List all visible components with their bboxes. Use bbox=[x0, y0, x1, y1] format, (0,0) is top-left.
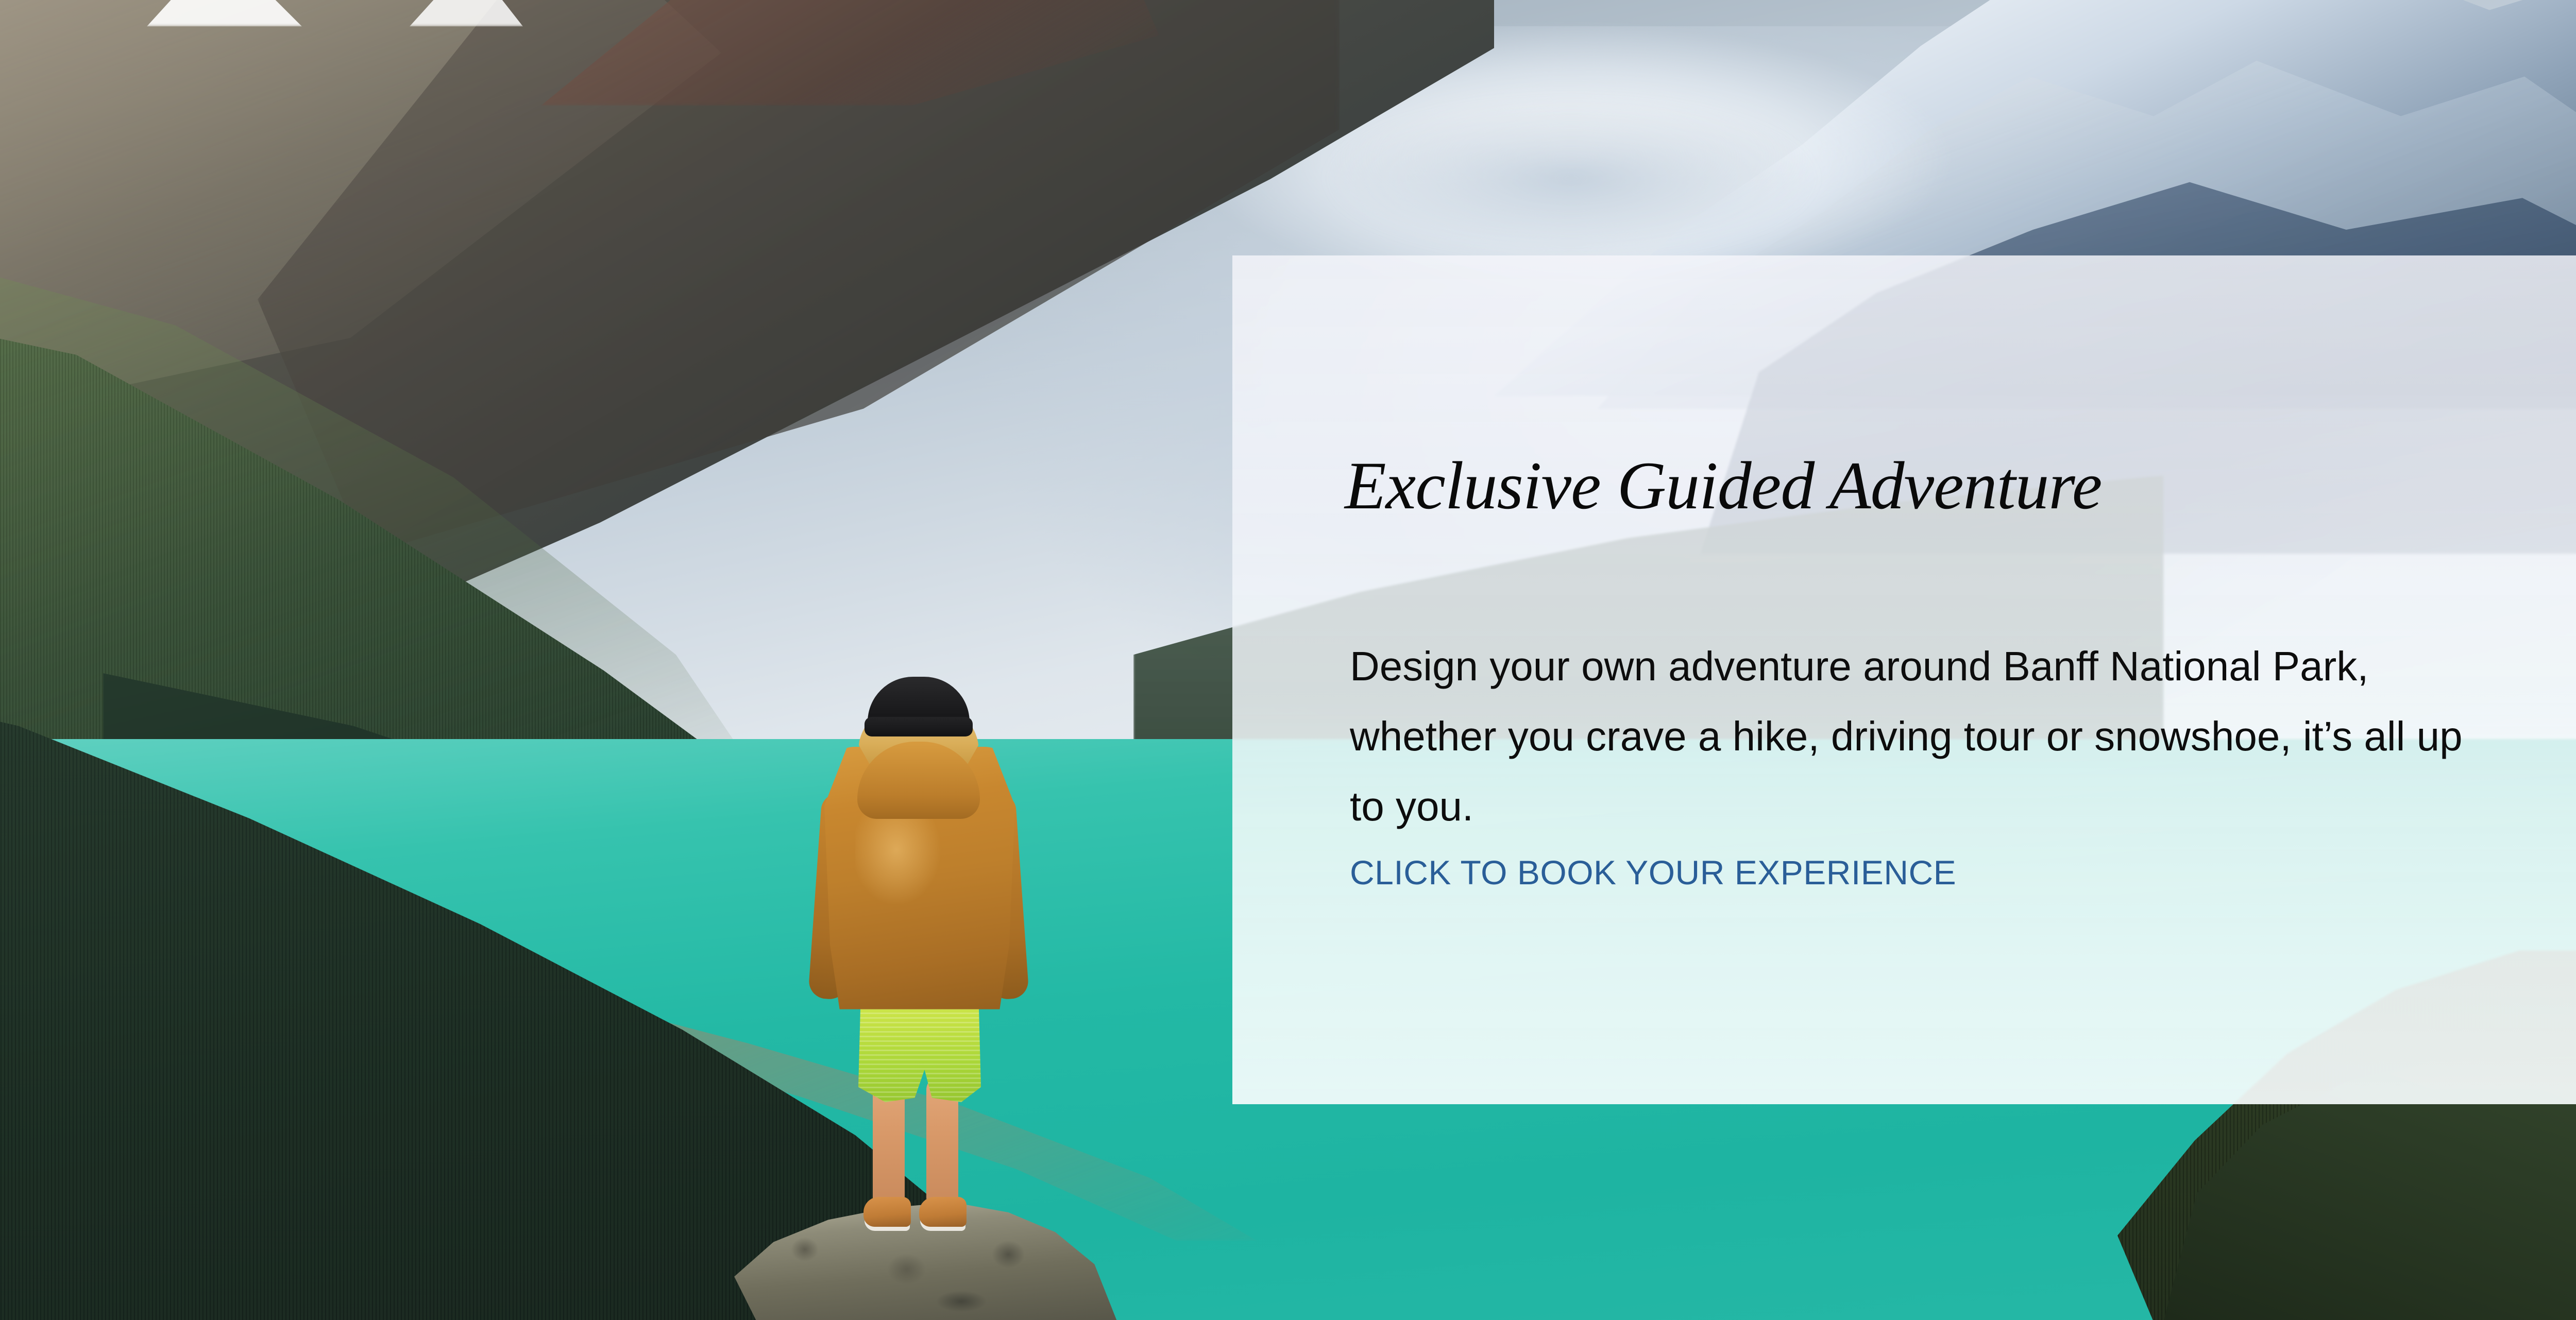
hoodie-highlight bbox=[855, 803, 958, 958]
page-title: Exclusive Guided Adventure bbox=[1345, 450, 2102, 522]
hero-content-panel: Exclusive Guided Adventure Design your o… bbox=[1232, 255, 2576, 1104]
hero-description: Design your own adventure around Banff N… bbox=[1350, 631, 2478, 842]
book-experience-link[interactable]: CLICK TO BOOK YOUR EXPERIENCE bbox=[1350, 853, 1956, 892]
beanie-brim bbox=[865, 717, 973, 736]
hero-banner: Exclusive Guided Adventure Design your o… bbox=[0, 0, 2576, 1320]
shoe-right bbox=[919, 1197, 967, 1227]
shoe-left bbox=[863, 1197, 911, 1227]
panel-content: Exclusive Guided Adventure Design your o… bbox=[1345, 255, 2545, 1104]
